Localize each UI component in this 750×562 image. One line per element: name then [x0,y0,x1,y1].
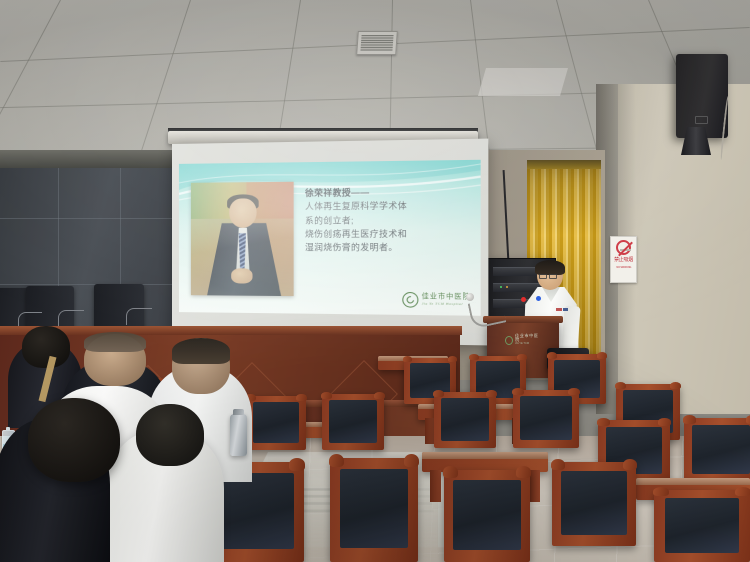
chair[interactable] [654,490,750,562]
projection-screen: 徐荣祥教授—— 人体再生复原科学学术体 系的创立者; 烧伤创疡再生医疗技术和 湿… [172,139,488,346]
screen-glare [172,139,488,346]
podium-logo-label-en: JIA YE TCM [515,343,539,346]
audience-hair [84,332,146,352]
no-smoking-label-cn: 禁止吸烟 [614,258,633,263]
chair[interactable] [444,470,530,562]
thermos-flask[interactable] [230,414,247,456]
chair[interactable] [246,396,306,450]
chair[interactable] [552,462,636,546]
chair[interactable] [434,392,496,448]
mic-indicator-red [521,297,526,302]
mic-indicator-blue [536,296,541,301]
chair[interactable] [330,458,418,562]
audience-head [136,404,204,466]
conference-room-photo: 禁止吸烟 NO SMOKING [0,0,750,562]
microphone-head-icon [466,293,474,301]
panel-wall-cornice [0,150,185,168]
no-smoking-sign: 禁止吸烟 NO SMOKING [610,236,637,283]
dais-microphone [58,310,84,327]
loudspeaker-icon [676,54,728,138]
presenter-glasses [539,274,547,279]
stage-edge-cap [0,326,462,335]
chair[interactable] [684,418,750,482]
chair[interactable] [322,394,384,450]
dais-microphone [126,308,152,325]
podium-emblem-icon [505,336,513,345]
audience-hair [172,338,230,364]
podium-logo: 佳业市中医院 JIA YE TCM [505,332,539,348]
audience-head [28,398,120,482]
no-smoking-label-en: NO SMOKING [616,265,631,268]
no-smoking-icon [616,240,631,255]
chair[interactable] [513,390,579,448]
presenter-arm [561,305,580,352]
audience-head [22,326,70,368]
